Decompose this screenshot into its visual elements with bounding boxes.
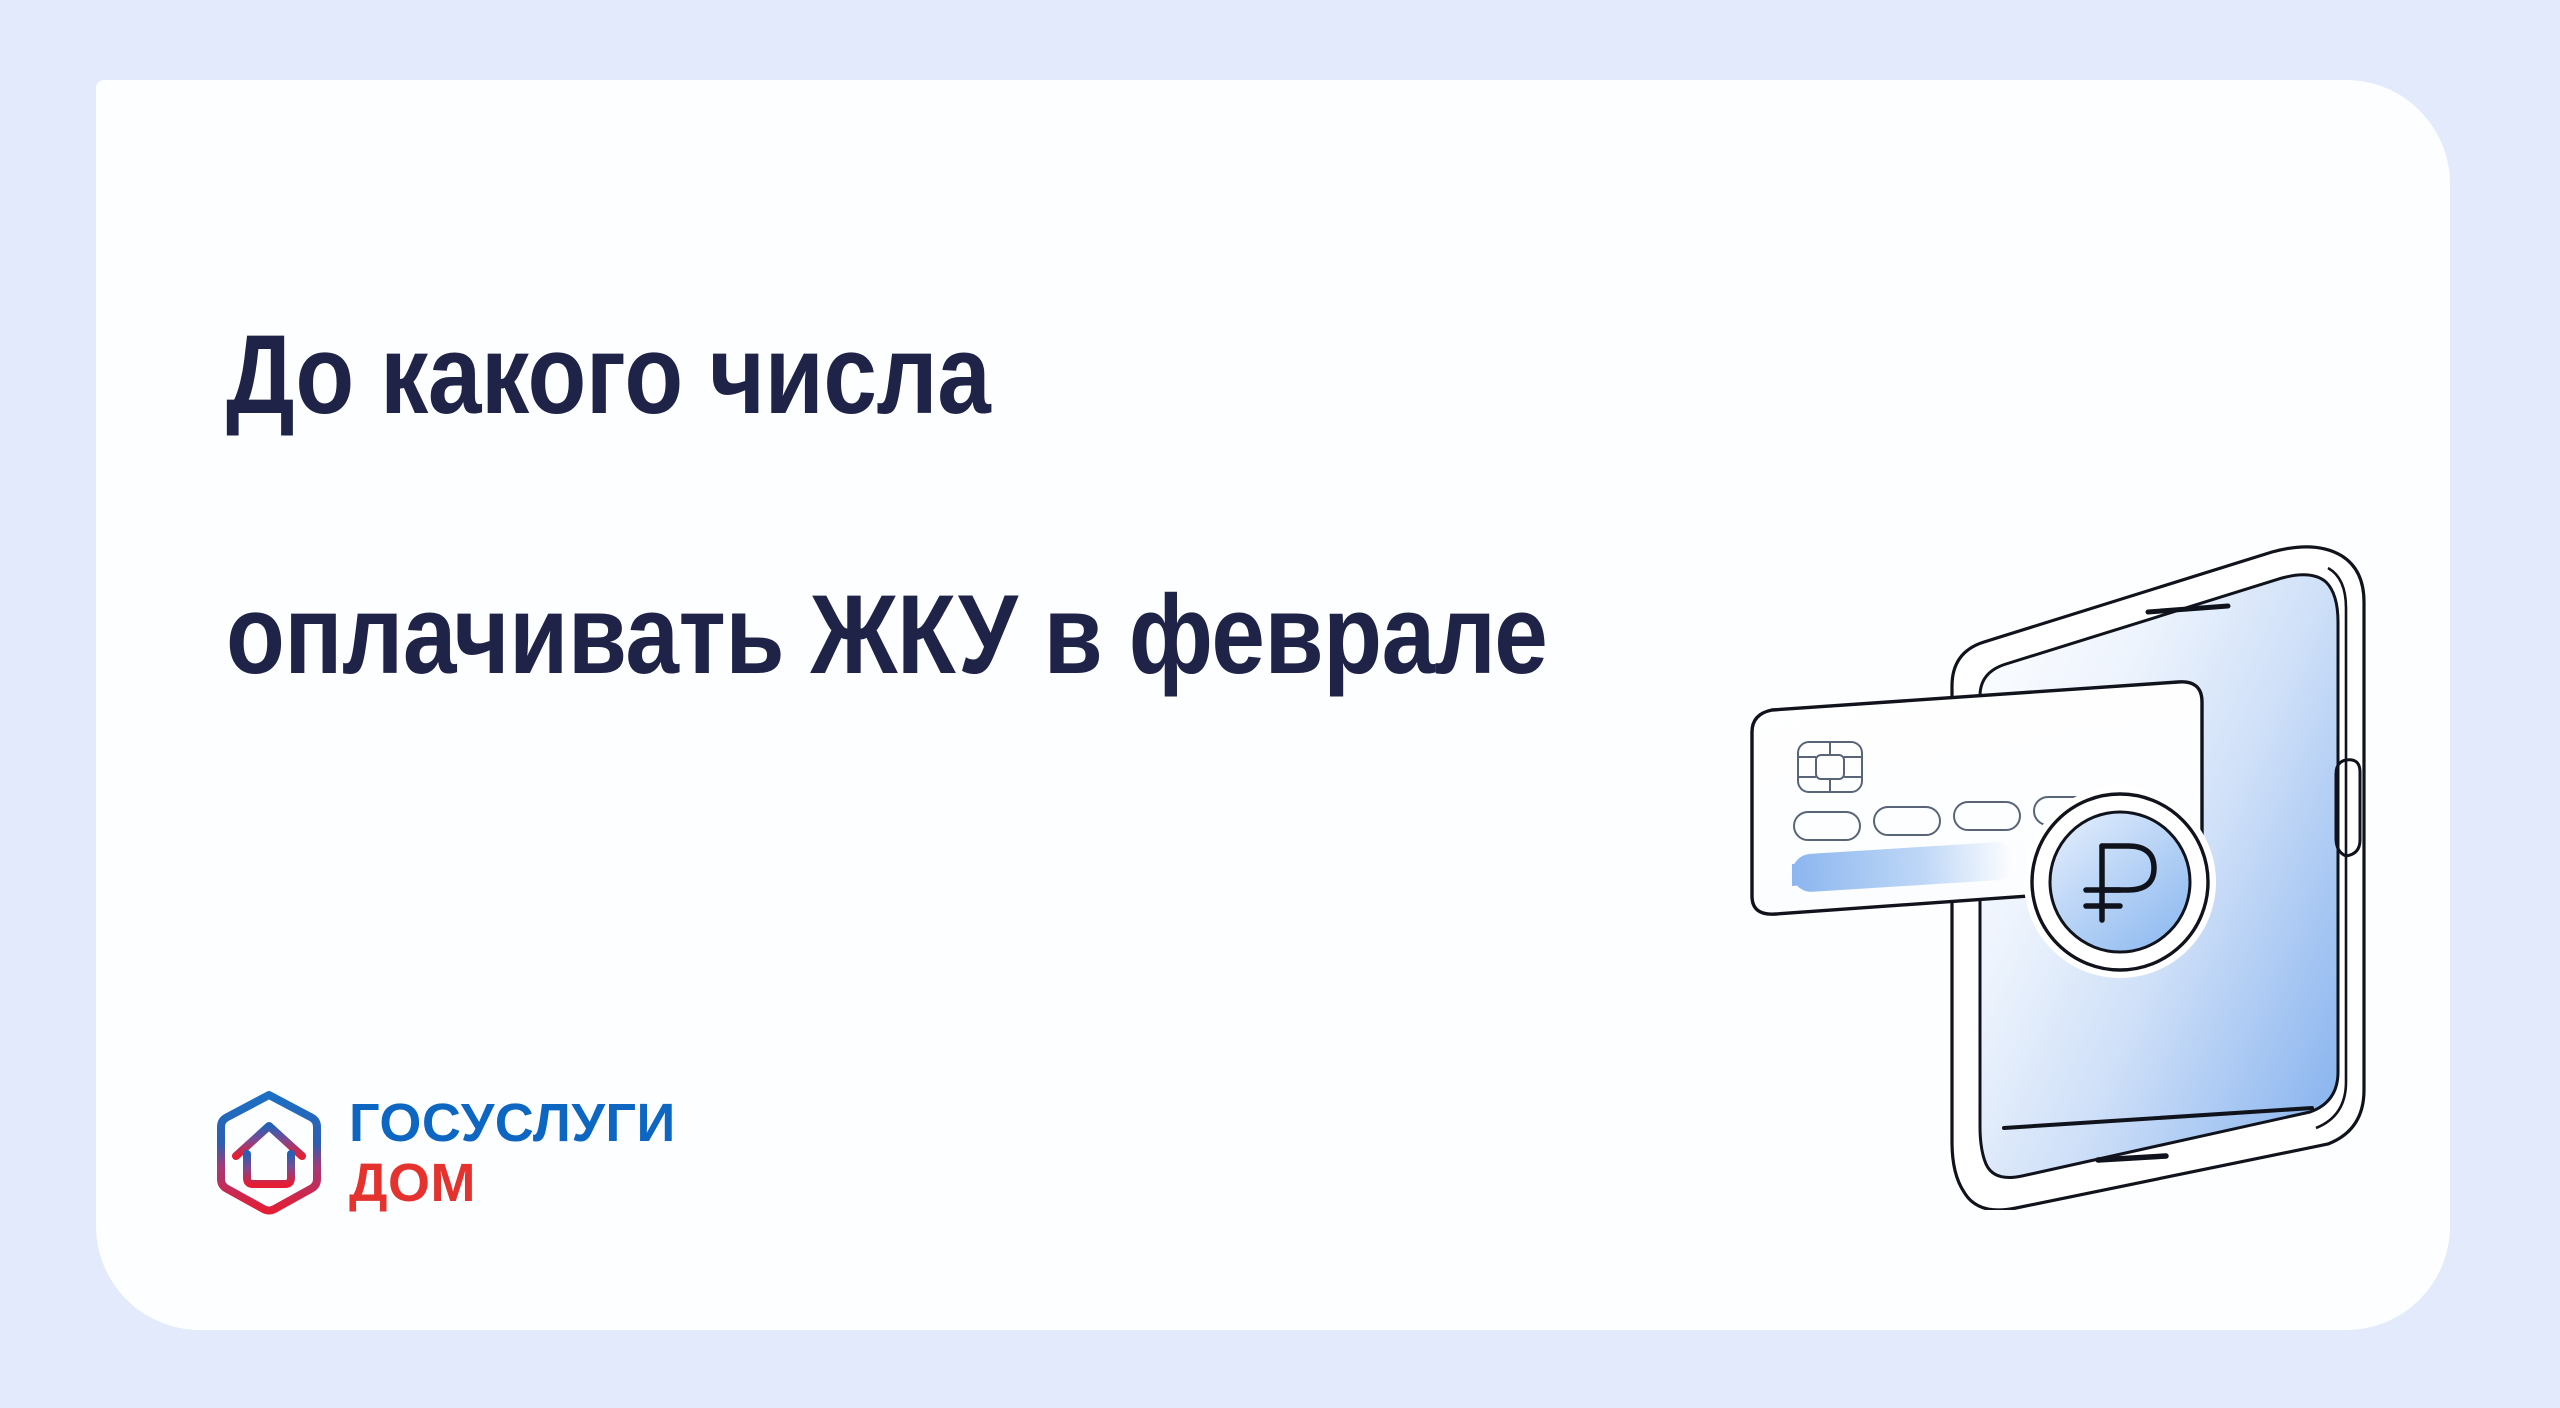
page-title-line-2: оплачивать ЖКУ в феврале bbox=[226, 570, 1688, 700]
page-title: До какого числа оплачивать ЖКУ в феврале bbox=[226, 180, 1688, 830]
poster-canvas: До какого числа оплачивать ЖКУ в феврале bbox=[0, 0, 2560, 1408]
brand-word-dom: Дом bbox=[349, 1156, 676, 1210]
ruble-coin bbox=[2024, 786, 2216, 978]
gosuslugi-dom-house-hexagon-icon bbox=[211, 1090, 327, 1216]
brand-word-gosuslugi: Госуслуги bbox=[349, 1096, 676, 1150]
white-content-card: До какого числа оплачивать ЖКУ в феврале bbox=[96, 80, 2450, 1330]
brand-wordmark: Госуслуги Дом bbox=[349, 1096, 676, 1210]
phone-card-ruble-coin-illustration bbox=[1716, 330, 2450, 1210]
page-title-line-1: До какого числа bbox=[226, 310, 1688, 440]
brand-logo: Госуслуги Дом bbox=[211, 1090, 676, 1216]
